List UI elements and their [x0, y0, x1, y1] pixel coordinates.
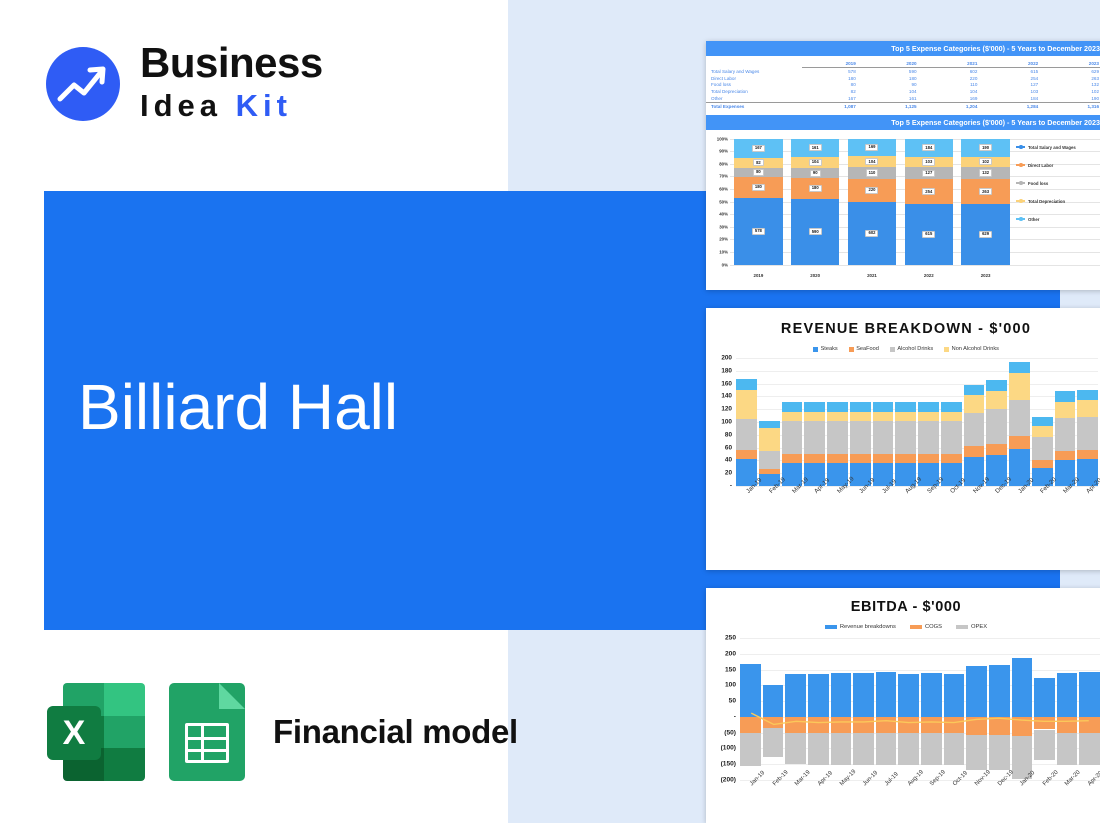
bar-segment-positive	[763, 685, 784, 717]
bar-segment	[827, 402, 848, 412]
legend-item: Other	[1016, 217, 1100, 222]
bar-column: 16110490180590	[791, 139, 839, 265]
brand-name-line2: Idea Kit	[140, 87, 323, 126]
cell-value: 167	[802, 95, 863, 102]
bar-segment	[827, 421, 848, 454]
cell-value: 82	[802, 88, 863, 95]
column-header	[706, 60, 802, 68]
column-header: 2022	[984, 60, 1045, 68]
bar-value-label: 82	[753, 159, 764, 166]
brand-name-line1: Business	[140, 42, 323, 84]
bar-segment	[1077, 417, 1098, 450]
legend-label: Total Salary and Wages	[1028, 145, 1076, 150]
bar-column	[1057, 638, 1078, 780]
bar-segment	[873, 402, 894, 412]
bar-value-label: 169	[865, 144, 878, 151]
bar-segment: 254	[905, 179, 953, 204]
row-label: Total Depreciation	[706, 88, 802, 95]
x-axis-label: 2022	[924, 273, 934, 278]
bar-segment	[895, 421, 916, 454]
bar-segment	[736, 390, 757, 419]
x-axis-label: 2023	[981, 273, 991, 278]
cell-value: 615	[984, 68, 1045, 75]
cell-value: 180	[863, 75, 924, 82]
bar-segment: 263	[961, 179, 1009, 204]
cell-value: 1,204	[924, 102, 985, 109]
bar-segment: 602	[848, 202, 896, 265]
bar-segment	[873, 421, 894, 454]
legend: Total Salary and WagesDirect LaborFood l…	[1016, 145, 1100, 235]
bar-value-label: 102	[979, 158, 992, 165]
legend-label: Non Alcohol Drinks	[952, 346, 999, 352]
bar-segment	[1077, 400, 1098, 417]
bar-segment-negative	[853, 733, 874, 766]
y-axis-label: 40%	[708, 212, 728, 217]
bar-segment	[918, 454, 939, 463]
bar-value-label: 220	[865, 187, 878, 194]
bar-segment: 161	[791, 139, 839, 157]
bar-segment: 220	[848, 179, 896, 202]
table-header-row: 20192020202120222023	[706, 60, 1100, 68]
cell-value: 110	[924, 82, 985, 89]
bar-column: 184103127254615	[905, 139, 953, 265]
legend-label: Alcohol Drinks	[897, 346, 933, 352]
bar-segment-positive	[740, 664, 761, 717]
cell-value: 1,087	[802, 102, 863, 109]
bar-segment	[736, 450, 757, 459]
bar-segment	[1009, 400, 1030, 436]
y-axis-label: 0%	[708, 262, 728, 267]
bar-column	[759, 358, 780, 486]
bar-value-label: 263	[979, 188, 992, 195]
legend-item: Direct Labor	[1016, 163, 1100, 168]
legend-item: Non Alcohol Drinks	[944, 346, 999, 352]
excel-letter: X	[47, 706, 101, 760]
bar-value-label: 180	[809, 185, 822, 192]
y-axis-label: (50)	[708, 729, 736, 736]
bar-column	[1009, 358, 1030, 486]
bar-segment-negative	[966, 735, 987, 770]
legend-label: Direct Labor	[1028, 163, 1053, 168]
bar-segment	[986, 444, 1007, 456]
bar-segment: 180	[734, 177, 782, 198]
bar-column	[964, 358, 985, 486]
bar-column	[1077, 358, 1098, 486]
bar-column	[876, 638, 897, 780]
bar-column: 1678280180578	[734, 139, 782, 265]
bar-segment: 110	[848, 167, 896, 179]
bar-segment	[827, 412, 848, 421]
bar-segment-positive	[921, 673, 942, 717]
bar-segment: 104	[791, 157, 839, 169]
y-axis-label: 10%	[708, 250, 728, 255]
footer-label: Financial model	[273, 713, 518, 751]
bar-segment	[918, 412, 939, 421]
bar-segment	[736, 379, 757, 391]
bar-segment	[986, 391, 1007, 409]
bar-segment	[941, 454, 962, 463]
bar-segment-positive	[1079, 672, 1100, 717]
bar-column	[918, 358, 939, 486]
cell-value: 254	[984, 75, 1045, 82]
bar-segment: 629	[961, 204, 1009, 264]
legend-item: Steaks	[813, 346, 838, 352]
legend-label: Total Depreciation	[1028, 199, 1065, 204]
bar-segment-positive	[853, 673, 874, 717]
bar-segment-negative	[876, 733, 897, 766]
expense-categories-card: Top 5 Expense Categories ($'000) - 5 Yea…	[706, 41, 1100, 290]
bar-column	[1012, 638, 1033, 780]
bar-column	[740, 638, 761, 780]
y-axis-label: (200)	[708, 777, 736, 784]
bar-segment	[895, 402, 916, 412]
x-axis-label: 2019	[754, 273, 764, 278]
bar-column	[1055, 358, 1076, 486]
gridline	[730, 265, 1100, 266]
bar-segment	[918, 421, 939, 454]
bar-segment	[986, 380, 1007, 392]
bar-segment: 180	[791, 178, 839, 198]
bar-segment	[759, 428, 780, 451]
bar-segment-negative	[831, 717, 852, 733]
bar-segment	[873, 412, 894, 421]
bar-column: 190102132263629	[961, 139, 1009, 265]
row-label: Food loss	[706, 82, 802, 89]
bar-column	[1079, 638, 1100, 780]
cell-value: 102	[1045, 88, 1100, 95]
legend-item: Revenue breakdowns	[825, 624, 896, 630]
bar-segment-negative	[785, 717, 806, 733]
y-axis-label: (150)	[708, 761, 736, 768]
legend-label: Other	[1028, 217, 1039, 222]
bar-column	[895, 358, 916, 486]
y-axis-label: 180	[710, 367, 732, 374]
bar-value-label: 80	[753, 169, 764, 176]
legend-swatch	[890, 347, 895, 352]
bar-segment	[1032, 460, 1053, 468]
bar-segment-negative	[853, 717, 874, 733]
expense-chart-title: Top 5 Expense Categories ($'000) - 5 Yea…	[706, 115, 1100, 130]
y-axis-label: 80	[710, 431, 732, 438]
bar-segment	[782, 412, 803, 421]
bar-value-label: 104	[865, 158, 878, 165]
cell-value: 602	[924, 68, 985, 75]
brand-logo: Business Idea Kit	[46, 42, 323, 126]
y-axis-label: 70%	[708, 174, 728, 179]
bar-segment-negative	[921, 733, 942, 766]
column-header: 2021	[924, 60, 985, 68]
row-label: Total Salary and Wages	[706, 68, 802, 75]
legend-swatch	[1016, 200, 1025, 202]
bar-segment-negative	[989, 717, 1010, 735]
bar-segment	[850, 412, 871, 421]
legend-label: Steaks	[821, 346, 838, 352]
bar-segment-positive	[876, 672, 897, 717]
bar-segment	[1009, 373, 1030, 400]
bar-segment-negative	[898, 733, 919, 766]
bar-segment-negative	[989, 735, 1010, 770]
table-row: Total Depreciation82104104103102	[706, 88, 1100, 95]
bar-column	[850, 358, 871, 486]
bar-column	[986, 358, 1007, 486]
ebitda-card: EBITDA - $'000 Revenue breakdownsCOGSOPE…	[706, 588, 1100, 823]
bar-column	[782, 358, 803, 486]
bar-column	[736, 358, 757, 486]
bar-segment: 127	[905, 167, 953, 179]
bar-segment	[804, 402, 825, 412]
cell-value: 103	[984, 88, 1045, 95]
bar-column	[944, 638, 965, 780]
x-axis-label: 2021	[867, 273, 877, 278]
bar-segment-negative	[1012, 717, 1033, 737]
cell-value: 184	[984, 95, 1045, 102]
microsoft-excel-icon: X	[47, 683, 145, 781]
bar-segment	[1077, 450, 1098, 459]
bar-segment	[964, 446, 985, 456]
legend-swatch	[1016, 218, 1025, 220]
bar-segment	[1055, 418, 1076, 451]
bar-column	[804, 358, 825, 486]
bar-value-label: 578	[752, 228, 765, 235]
bar-segment-negative	[1034, 730, 1055, 760]
plot-area: 1678280180578161104901805901691041102206…	[730, 139, 1014, 265]
bar-segment	[850, 421, 871, 454]
revenue-breakdown-card: REVENUE BREAKDOWN - $'000 SteaksSeaFoodA…	[706, 308, 1100, 570]
bar-segment: 90	[791, 168, 839, 178]
bar-segment-negative	[1034, 717, 1055, 730]
cell-value: 263	[1045, 75, 1100, 82]
y-axis-label: 60%	[708, 187, 728, 192]
bar-segment: 184	[905, 139, 953, 157]
bar-segment-negative	[763, 717, 784, 728]
y-axis-label: 90%	[708, 149, 728, 154]
cell-value: 220	[924, 75, 985, 82]
bar-segment	[782, 421, 803, 454]
y-axis-label: 40	[710, 457, 732, 464]
bar-value-label: 590	[809, 228, 822, 235]
bar-column	[853, 638, 874, 780]
cell-value: 180	[802, 75, 863, 82]
bar-column	[873, 358, 894, 486]
bar-segment: 132	[961, 167, 1009, 180]
bar-segment	[759, 451, 780, 469]
legend-swatch	[956, 625, 968, 629]
bar-column	[966, 638, 987, 780]
y-axis-label: 250	[708, 635, 736, 642]
table-row: Other167161169184190	[706, 95, 1100, 102]
y-axis-label: 20	[710, 470, 732, 477]
table-row: Direct Labor180180220254263	[706, 75, 1100, 82]
table-row: Total Salary and Wages578590602615629	[706, 68, 1100, 75]
bar-segment	[1055, 402, 1076, 419]
bar-segment-positive	[831, 673, 852, 717]
brand-idea-text: Idea	[140, 88, 236, 123]
bar-segment-negative	[876, 717, 897, 733]
legend-item: OPEX	[956, 624, 987, 630]
bar-value-label: 184	[922, 144, 935, 151]
legend-swatch	[1016, 182, 1025, 184]
expense-table-title: Top 5 Expense Categories ($'000) - 5 Yea…	[706, 41, 1100, 56]
bar-segment	[964, 395, 985, 413]
y-axis-label: 50%	[708, 199, 728, 204]
bar-segment-positive	[898, 674, 919, 717]
bar-segment-negative	[740, 733, 761, 766]
column-header: 2019	[802, 60, 863, 68]
cell-value: 578	[802, 68, 863, 75]
bar-column	[1032, 358, 1053, 486]
row-label: Direct Labor	[706, 75, 802, 82]
bar-column	[921, 638, 942, 780]
y-axis-label: 60	[710, 444, 732, 451]
bar-segment	[1077, 390, 1098, 400]
bar-segment	[850, 454, 871, 463]
bar-segment	[986, 409, 1007, 444]
legend-item: Alcohol Drinks	[890, 346, 933, 352]
bar-segment-negative	[1079, 717, 1100, 733]
bar-value-label: 180	[752, 184, 765, 191]
column-header: 2020	[863, 60, 924, 68]
cell-value: 629	[1045, 68, 1100, 75]
bar-value-label: 629	[979, 231, 992, 238]
bar-segment	[964, 385, 985, 395]
ebitda-bar-chart: (200)(150)(100)(50)-50100150200250Jan-19…	[706, 634, 1100, 806]
bar-segment-positive	[966, 666, 987, 716]
column-header: 2023	[1045, 60, 1100, 68]
bar-segment-positive	[989, 665, 1010, 717]
y-axis-label: 200	[708, 650, 736, 657]
bar-segment-negative	[898, 717, 919, 733]
bar-segment	[1055, 451, 1076, 460]
cell-value: 127	[984, 82, 1045, 89]
bar-segment-negative	[1057, 717, 1078, 733]
y-axis-label: -	[710, 483, 732, 490]
legend-item: Food loss	[1016, 181, 1100, 186]
cell-value: 80	[802, 82, 863, 89]
bar-segment: 102	[961, 157, 1009, 167]
table-row: Food loss8090110127132	[706, 82, 1100, 89]
bar-segment-negative	[1057, 733, 1078, 766]
slide-canvas: Business Idea Kit Billiard Hall X Financ…	[0, 0, 1100, 823]
ebitda-chart-title: EBITDA - $'000	[706, 599, 1100, 615]
bar-value-label: 103	[922, 158, 935, 165]
bar-segment-positive	[1057, 673, 1078, 717]
row-label: Other	[706, 95, 802, 102]
bar-segment-negative	[808, 733, 829, 766]
y-axis-label: 50	[708, 698, 736, 705]
bar-segment-positive	[1034, 678, 1055, 716]
bar-segment-negative	[1079, 733, 1100, 766]
bar-segment-negative	[921, 717, 942, 733]
cell-value: 1,316	[1045, 102, 1100, 109]
bar-value-label: 161	[809, 144, 822, 151]
legend-item: COGS	[910, 624, 942, 630]
bar-value-label: 132	[979, 169, 992, 176]
legend-swatch	[849, 347, 854, 352]
bar-segment: 169	[848, 139, 896, 157]
revenue-chart-title: REVENUE BREAKDOWN - $'000	[706, 321, 1100, 337]
bar-value-label: 110	[866, 169, 879, 176]
x-axis-label: 2020	[810, 273, 820, 278]
row-label: Total Expenses	[706, 102, 802, 109]
bar-segment	[941, 421, 962, 454]
legend-label: Revenue breakdowns	[840, 624, 896, 630]
y-axis-label: 100%	[708, 136, 728, 141]
bar-column	[763, 638, 784, 780]
bar-segment-negative	[831, 733, 852, 766]
legend-swatch	[910, 625, 922, 629]
bar-segment: 578	[734, 198, 782, 265]
cell-value: 104	[863, 88, 924, 95]
y-axis-label: 150	[708, 666, 736, 673]
y-axis-label: 160	[710, 380, 732, 387]
bar-segment-negative	[808, 717, 829, 733]
bar-value-label: 615	[922, 231, 935, 238]
bar-column	[1034, 638, 1055, 780]
bar-segment	[941, 402, 962, 412]
bar-value-label: 190	[979, 144, 992, 151]
bar-value-label: 90	[810, 170, 821, 177]
bar-segment	[1009, 436, 1030, 449]
bar-value-label: 167	[752, 145, 765, 152]
bar-segment	[895, 454, 916, 463]
bar-segment	[782, 402, 803, 412]
table-total-row: Total Expenses1,0871,1251,2041,2841,316	[706, 102, 1100, 109]
cell-value: 104	[924, 88, 985, 95]
cell-value: 1,284	[984, 102, 1045, 109]
legend-swatch	[1016, 164, 1025, 166]
bar-segment	[1032, 417, 1053, 426]
cell-value: 132	[1045, 82, 1100, 89]
legend-label: COGS	[925, 624, 942, 630]
y-axis-label: 100	[708, 682, 736, 689]
legend-swatch	[1016, 146, 1025, 148]
bar-column	[941, 358, 962, 486]
bar-segment	[918, 402, 939, 412]
bar-segment	[827, 454, 848, 463]
bar-segment-negative	[944, 717, 965, 733]
cell-value: 590	[863, 68, 924, 75]
legend-item: Total Salary and Wages	[1016, 145, 1100, 150]
bar-column	[989, 638, 1010, 780]
bar-segment	[895, 412, 916, 421]
google-sheets-icon	[169, 683, 245, 781]
bar-value-label: 104	[809, 159, 822, 166]
bar-segment-negative	[944, 733, 965, 766]
y-axis-label: 140	[710, 393, 732, 400]
bar-segment	[804, 412, 825, 421]
bar-value-label: 602	[865, 230, 878, 237]
bar-column	[898, 638, 919, 780]
bar-column	[785, 638, 806, 780]
legend-label: SeaFood	[856, 346, 879, 352]
revenue-bar-chart: -20406080100120140160180200Jan-19Feb-19M…	[706, 354, 1100, 532]
bar-column	[827, 358, 848, 486]
expense-stacked-bar-chart: 0%10%20%30%40%50%60%70%80%90%100%1678280…	[706, 133, 1100, 281]
bar-segment	[850, 402, 871, 412]
cell-value: 90	[863, 82, 924, 89]
y-axis-label: 120	[710, 406, 732, 413]
bar-segment	[1055, 391, 1076, 401]
bar-segment	[804, 421, 825, 454]
bar-segment	[1009, 362, 1030, 374]
bar-segment: 82	[734, 158, 782, 168]
y-axis-label: 30%	[708, 224, 728, 229]
bar-segment	[782, 454, 803, 463]
cell-value: 1,125	[863, 102, 924, 109]
legend-item: Total Depreciation	[1016, 199, 1100, 204]
y-axis-label: 100	[710, 419, 732, 426]
bar-column	[831, 638, 852, 780]
